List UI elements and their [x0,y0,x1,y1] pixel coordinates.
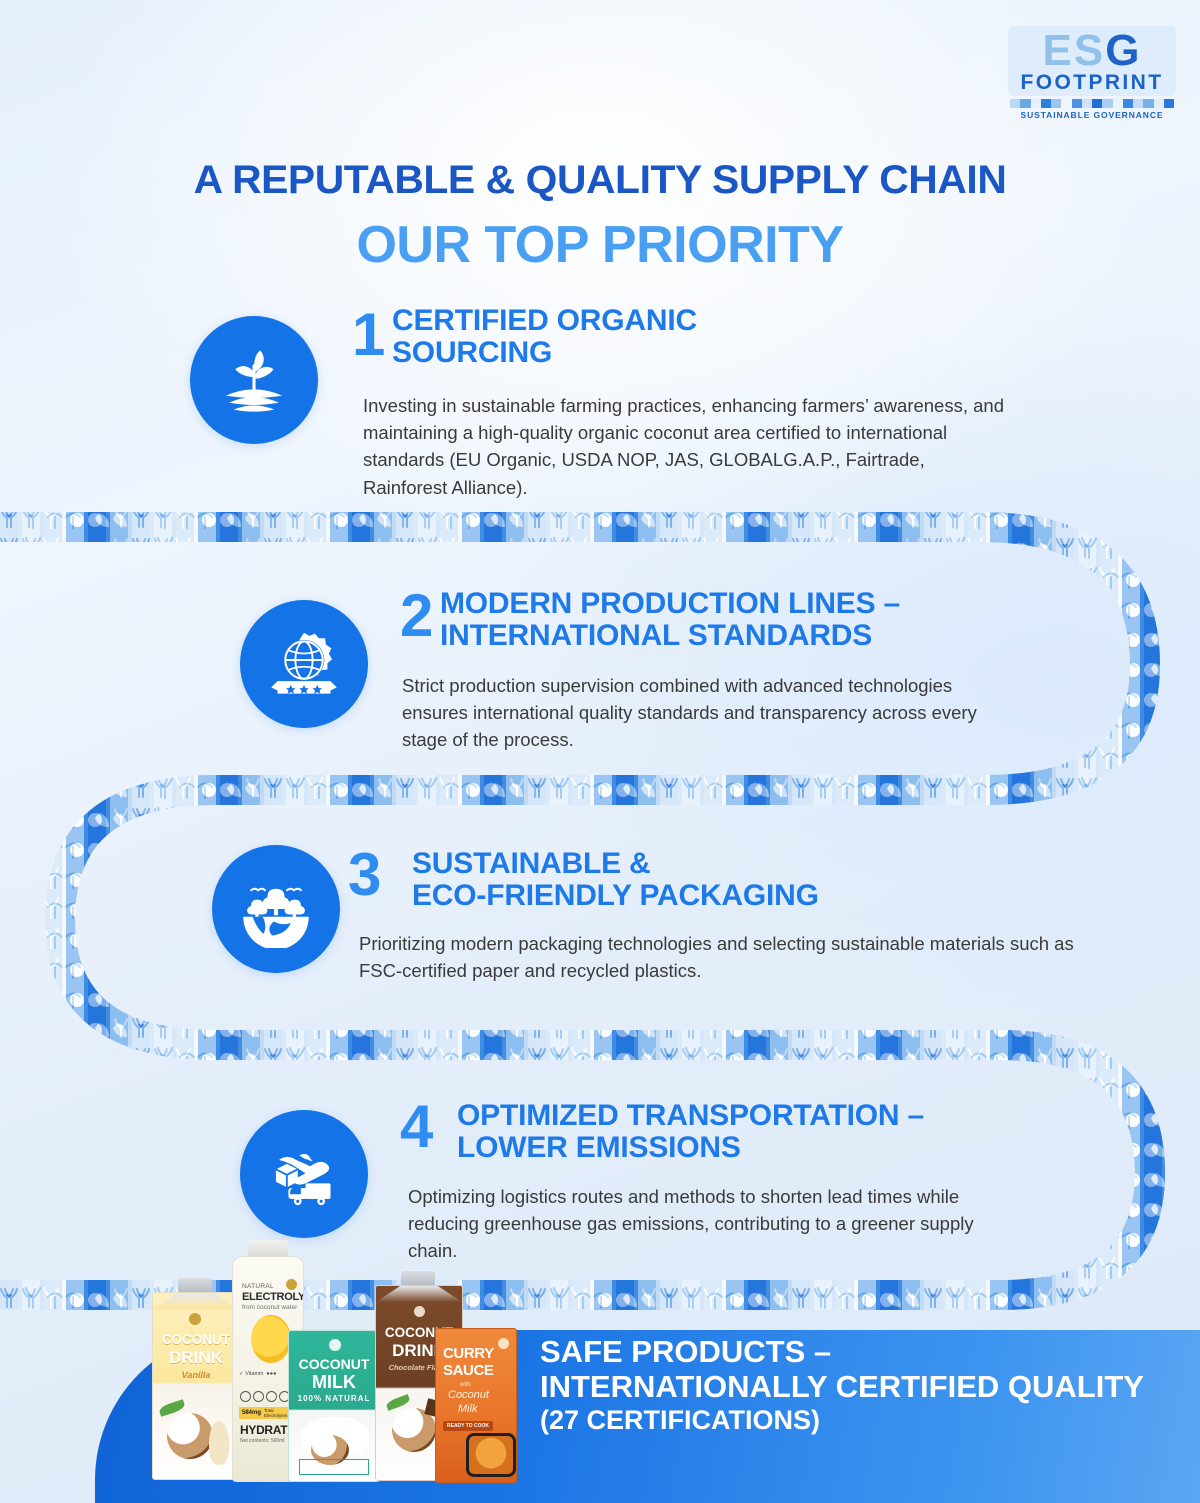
brand-mark [498,1338,509,1349]
step-2-number: 2 [400,586,433,646]
esg-footprint-logo: ESG FOOTPRINT SUSTAINABLE GOVERNANCE [1008,26,1176,120]
carton-body: COCONUT MILK 100% NATURAL [288,1330,380,1482]
step-2-heading: MODERN PRODUCTION LINES – INTERNATIONAL … [440,588,1030,652]
banner-line1: SAFE PRODUCTS – [540,1334,1180,1369]
logo-esg-text: ESG [1014,30,1170,72]
step-3-heading-line2: ECO-FRIENDLY PACKAGING [412,879,819,912]
step-3-heading: SUSTAINABLE & ECO-FRIENDLY PACKAGING [412,848,1012,912]
carton-top [153,1293,239,1309]
step-3-heading-line1: SUSTAINABLE & [412,847,651,880]
coconut-image [167,1413,213,1459]
product-title-line1: CURRY [443,1345,494,1362]
product-flavor: Coconut [448,1389,489,1401]
page-title-line2: OUR TOP PRIORITY [0,215,1200,275]
brand-mark [286,1279,297,1290]
brand-mark [414,1306,425,1317]
banner-line3: (27 CERTIFICATIONS) [540,1405,1180,1436]
step-1-heading-line1: CERTIFIED ORGANIC [392,304,697,337]
mango-image [251,1315,291,1363]
badge-value: 584mg [242,1410,261,1416]
logo-tagline: SUSTAINABLE GOVERNANCE [1008,110,1176,120]
step-2-heading-line1: MODERN PRODUCTION LINES – [440,587,900,620]
logo-letter-g: G [1105,26,1141,75]
step-1-heading: CERTIFIED ORGANIC SOURCING [392,305,1012,369]
product-flavor-2: Milk [458,1403,478,1415]
step-1-number: 1 [352,305,385,365]
product-title-line2: DRINK [153,1349,239,1366]
carton-body: COCONUT DRINK Vanilla [152,1292,240,1480]
product-title-line1: COCONUT [289,1357,379,1371]
brand-mark [189,1313,201,1325]
product-title-line2: SAUCE [443,1362,494,1379]
step-3-body: Prioritizing modern packaging technologi… [359,930,1079,984]
step-4-number: 4 [400,1097,433,1157]
product-title-line1: COCONUT [153,1333,239,1347]
logo-badge: ESG FOOTPRINT [1008,26,1176,96]
product-coconut-drink-vanilla: COCONUT DRINK Vanilla [152,1292,240,1480]
ready-to-cook-badge: READY TO COOK [443,1421,493,1431]
logo-letter-s: S [1074,26,1105,75]
step-3-number: 3 [348,845,381,905]
product-eyebrow: NATURAL [242,1283,274,1290]
product-coconut-milk: COCONUT MILK 100% NATURAL [288,1330,380,1482]
curry-bowl-image [466,1433,516,1477]
product-title-line2: MILK [289,1373,379,1391]
brand-mark [329,1339,341,1351]
step-2-body: Strict production supervision combined w… [402,672,1022,754]
logo-leaf-strip-icon [1010,99,1174,108]
nutrition-panel [299,1459,369,1475]
page-title-line1: A REPUTABLE & QUALITY SUPPLY CHAIN [0,158,1200,203]
logo-letter-e: E [1043,26,1074,75]
step-2-heading-line2: INTERNATIONAL STANDARDS [440,619,872,652]
net-weight: Net contents: 500ml [240,1438,284,1444]
step-4-body: Optimizing logistics routes and methods … [408,1183,1028,1265]
infographic-canvas: ESG FOOTPRINT SUSTAINABLE GOVERNANCE A R… [0,0,1200,1503]
step-4-heading-line2: LOWER EMISSIONS [457,1131,741,1164]
sprout-field-icon [190,316,318,444]
logo-footprint-text: FOOTPRINT [1014,72,1170,94]
carton-body: CURRY SAUCE with Coconut Milk READY TO C… [435,1328,517,1483]
product-with-label: with [460,1382,471,1388]
globe-badge-icon [240,600,368,728]
carton-top [376,1286,462,1302]
plane-truck-box-icon [240,1110,368,1238]
bottom-banner-text: SAFE PRODUCTS – INTERNATIONALLY CERTIFIE… [540,1334,1180,1435]
step-4-heading-line1: OPTIMIZED TRANSPORTATION – [457,1099,924,1132]
step-4-heading: OPTIMIZED TRANSPORTATION – LOWER EMISSIO… [457,1100,1037,1164]
step-1-body: Investing in sustainable farming practic… [363,392,1013,501]
earth-trees-icon [212,845,340,973]
banner-line2: INTERNATIONALLY CERTIFIED QUALITY [540,1369,1180,1404]
product-curry-sauce: CURRY SAUCE with Coconut Milk READY TO C… [435,1328,517,1483]
product-flavor: Vanilla [153,1371,239,1380]
product-title: ELECTROLYTE [242,1291,304,1303]
product-flavor: 100% NATURAL [289,1395,379,1403]
vanilla-flower-image [209,1421,229,1465]
product-subtitle: from coconut water [242,1304,297,1311]
step-1-heading-line2: SOURCING [392,336,552,369]
